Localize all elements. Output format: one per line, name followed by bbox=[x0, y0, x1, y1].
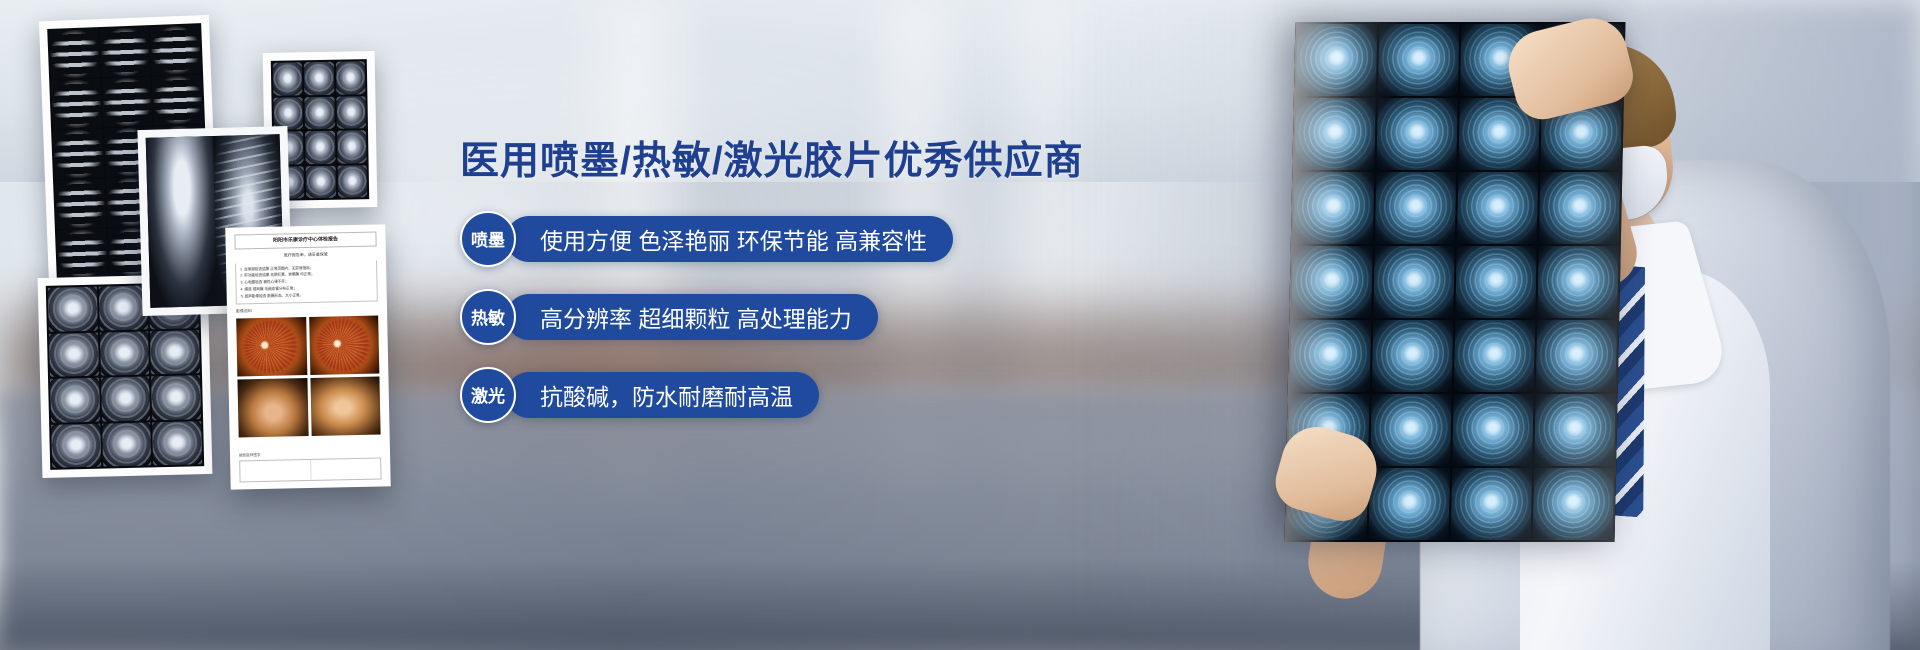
film-stack: 阳阳市乐康诊疗中心体检报告 医疗报告单，请妥善保管 1. 血常规检查结果 正常范… bbox=[0, 0, 520, 650]
mri-slice bbox=[1378, 24, 1460, 96]
film-slice bbox=[304, 62, 334, 95]
film-slice bbox=[102, 77, 152, 127]
film-slice bbox=[48, 287, 98, 332]
film-slice bbox=[273, 62, 303, 95]
mri-slice bbox=[1451, 468, 1533, 540]
film-slice bbox=[57, 229, 107, 279]
mri-slice bbox=[1537, 246, 1619, 318]
feature-text-thermal: 高分辨率 超细颗粒 高处理能力 bbox=[506, 294, 878, 340]
xray-skull-view bbox=[146, 136, 218, 308]
fundus-photo bbox=[309, 315, 380, 375]
film-slice bbox=[306, 165, 336, 198]
report-image-grid bbox=[236, 315, 380, 438]
medical-film-hero-banner: 阳阳市乐康诊疗中心体检报告 医疗报告单，请妥善保管 1. 血常规检查结果 正常范… bbox=[0, 0, 1920, 650]
signature-cell bbox=[240, 460, 311, 481]
mri-slice bbox=[1452, 394, 1534, 466]
mri-slice bbox=[1376, 98, 1458, 170]
film-slice bbox=[305, 131, 335, 164]
film-slice bbox=[337, 130, 367, 163]
report-section-label: 影像资料 bbox=[236, 305, 378, 314]
printed-medical-report: 阳阳市乐康诊疗中心体检报告 医疗报告单，请妥善保管 1. 血常规检查结果 正常范… bbox=[225, 224, 390, 489]
feature-tag-laser: 激光 bbox=[460, 367, 516, 423]
feature-tag-inkjet: 喷墨 bbox=[460, 211, 516, 267]
mri-slice bbox=[1534, 394, 1616, 466]
ultrasound-photo bbox=[237, 378, 308, 438]
film-slice bbox=[101, 376, 151, 421]
report-signature-box bbox=[239, 457, 381, 482]
film-slice bbox=[51, 79, 101, 129]
film-slice bbox=[51, 423, 101, 468]
mri-slice bbox=[1457, 172, 1539, 244]
film-slice bbox=[49, 332, 99, 377]
mri-slice bbox=[1536, 320, 1618, 392]
film-slice bbox=[55, 179, 105, 229]
feature-text-inkjet: 使用方便 色泽艳丽 环保节能 高兼容性 bbox=[506, 216, 953, 262]
film-slice bbox=[335, 61, 365, 94]
film-slice bbox=[150, 330, 200, 375]
feature-tag-thermal: 热敏 bbox=[460, 289, 516, 345]
feature-row-laser: 激光 抗酸碱，防水耐磨耐高温 bbox=[460, 367, 1080, 423]
film-slice bbox=[98, 285, 148, 330]
film-slice bbox=[100, 27, 150, 77]
mri-slice bbox=[1533, 468, 1615, 540]
report-footer: 报告医师签字 bbox=[239, 450, 382, 482]
film-slice bbox=[337, 165, 367, 198]
film-slice bbox=[152, 75, 202, 125]
signature-cell bbox=[311, 459, 381, 480]
report-findings: 1. 血常规检查结果 正常范围内，无异常指标； 2. 肝功能检查结果 总胆红素、… bbox=[235, 260, 378, 304]
film-slice bbox=[100, 331, 150, 376]
mri-slice bbox=[1372, 320, 1454, 392]
film-slice bbox=[102, 422, 152, 467]
report-line: 5. 超声影像检查 脏器形态、大小正常。 bbox=[241, 290, 373, 300]
doctor-photo bbox=[1060, 0, 1920, 650]
film-slice bbox=[49, 29, 99, 79]
mri-slice bbox=[1455, 246, 1537, 318]
mri-slice bbox=[1370, 394, 1452, 466]
film-slice bbox=[53, 129, 103, 179]
film-slice bbox=[151, 375, 201, 420]
mri-slice bbox=[1296, 24, 1378, 96]
film-slice bbox=[151, 25, 201, 75]
film-slice bbox=[273, 97, 303, 130]
mri-slice bbox=[1373, 246, 1455, 318]
mri-slice bbox=[1293, 172, 1375, 244]
mri-slice bbox=[1290, 320, 1372, 392]
feature-list: 喷墨 使用方便 色泽艳丽 环保节能 高兼容性 热敏 高分辨率 超细颗粒 高处理能… bbox=[460, 211, 1080, 423]
film-slice bbox=[336, 96, 366, 129]
mri-slice bbox=[1375, 172, 1457, 244]
mri-slice bbox=[1539, 172, 1621, 244]
mri-slice bbox=[1369, 468, 1451, 540]
ultrasound-photo bbox=[310, 377, 381, 437]
film-slice bbox=[152, 421, 202, 466]
mri-slice bbox=[1291, 246, 1373, 318]
feature-row-inkjet: 喷墨 使用方便 色泽艳丽 环保节能 高兼容性 bbox=[460, 211, 1080, 267]
fundus-photo bbox=[236, 317, 307, 377]
report-subtitle: 医疗报告单，请妥善保管 bbox=[235, 250, 377, 259]
film-slice bbox=[305, 96, 335, 129]
banner-content: 医用喷墨/热敏/激光胶片优秀供应商 喷墨 使用方便 色泽艳丽 环保节能 高兼容性… bbox=[460, 140, 1080, 423]
page-title: 医用喷墨/热敏/激光胶片优秀供应商 bbox=[460, 140, 1080, 185]
mri-slice bbox=[1294, 98, 1376, 170]
report-title: 阳阳市乐康诊疗中心体检报告 bbox=[234, 232, 376, 249]
feature-row-thermal: 热敏 高分辨率 超细颗粒 高处理能力 bbox=[460, 289, 1080, 345]
feature-text-laser: 抗酸碱，防水耐磨耐高温 bbox=[506, 372, 819, 418]
film-slice bbox=[50, 378, 100, 423]
mri-slice bbox=[1454, 320, 1536, 392]
